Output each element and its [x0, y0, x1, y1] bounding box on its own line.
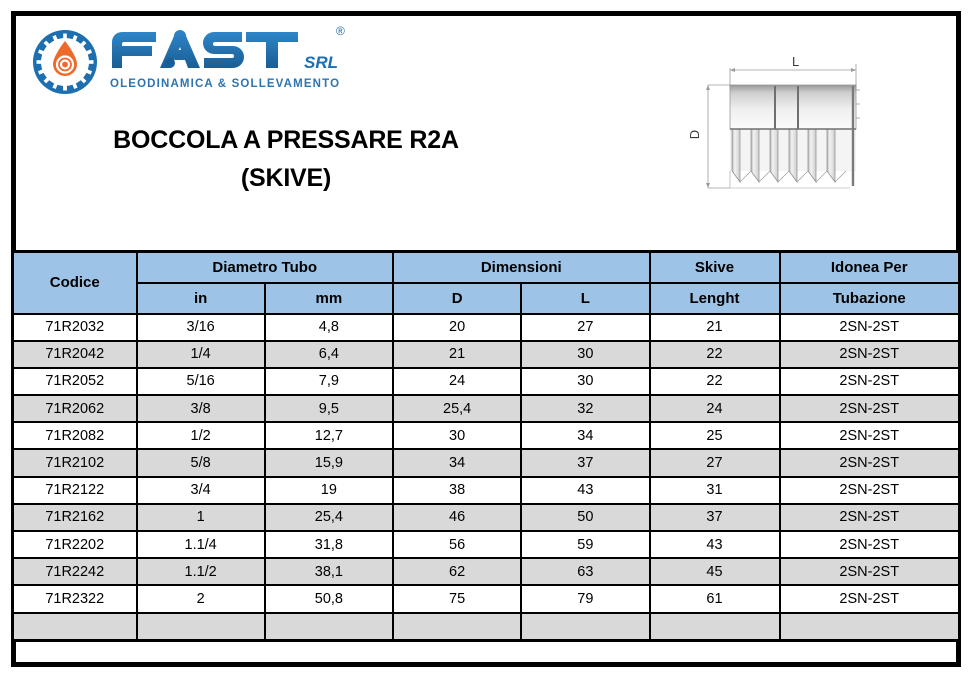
table-row: 71R20623/89,525,432242SN-2ST	[13, 395, 960, 422]
cell-skive	[650, 613, 780, 641]
cell-tubazione: 2SN-2ST	[780, 477, 960, 504]
title-line-2: (SKIVE)	[16, 159, 556, 197]
cell-tubazione: 2SN-2ST	[780, 531, 960, 558]
logo-srl-text: SRL	[304, 53, 338, 73]
page-title: BOCCOLA A PRESSARE R2A (SKIVE)	[16, 121, 556, 197]
cell-mm: 12,7	[265, 422, 393, 449]
cell-mm: 19	[265, 477, 393, 504]
logo-wordmark: SRL ® OLEODINAMICA & SOLLEVAMENTO	[108, 26, 372, 104]
cell-in: 1/4	[137, 341, 265, 368]
cell-in: 1/2	[137, 422, 265, 449]
table-header: Codice Diametro Tubo Dimensioni Skive Id…	[13, 252, 960, 314]
cell-in: 5/8	[137, 449, 265, 476]
cell-skive: 45	[650, 558, 780, 585]
dimension-label-diameter: D	[687, 130, 702, 139]
table-row: 71R2322250,87579612SN-2ST	[13, 585, 960, 612]
header-sub-d: D	[393, 283, 521, 314]
cell-codice: 71R2052	[13, 368, 137, 395]
table-row: 71R22421.1/238,16263452SN-2ST	[13, 558, 960, 585]
cell-in: 3/4	[137, 477, 265, 504]
header-codice: Codice	[13, 252, 137, 314]
table-row: 71R21223/4193843312SN-2ST	[13, 477, 960, 504]
cell-d: 62	[393, 558, 521, 585]
specification-table-wrapper: Codice Diametro Tubo Dimensioni Skive Id…	[11, 250, 961, 642]
cell-skive: 24	[650, 395, 780, 422]
table-row-blank	[13, 613, 960, 641]
cell-mm: 7,9	[265, 368, 393, 395]
cell-codice: 71R2202	[13, 531, 137, 558]
cell-codice: 71R2322	[13, 585, 137, 612]
table-row: 71R21025/815,93437272SN-2ST	[13, 449, 960, 476]
header-skive: Skive	[650, 252, 780, 283]
cell-tubazione: 2SN-2ST	[780, 341, 960, 368]
cell-mm: 38,1	[265, 558, 393, 585]
cell-codice: 71R2082	[13, 422, 137, 449]
logo-tagline: OLEODINAMICA & SOLLEVAMENTO	[110, 78, 340, 90]
cell-d	[393, 613, 521, 641]
dimension-label-length: L	[792, 54, 799, 69]
cell-l: 32	[521, 395, 649, 422]
cell-d: 30	[393, 422, 521, 449]
cell-l: 37	[521, 449, 649, 476]
cell-d: 46	[393, 504, 521, 531]
table-header-row-1: Codice Diametro Tubo Dimensioni Skive Id…	[13, 252, 960, 283]
cell-mm: 31,8	[265, 531, 393, 558]
table-row: 71R2162125,44650372SN-2ST	[13, 504, 960, 531]
cell-l: 59	[521, 531, 649, 558]
cell-tubazione	[780, 613, 960, 641]
cell-mm: 50,8	[265, 585, 393, 612]
datasheet-page: SRL ® OLEODINAMICA & SOLLEVAMENTO BOCCOL…	[0, 0, 972, 678]
cell-d: 24	[393, 368, 521, 395]
cell-d: 56	[393, 531, 521, 558]
header-dimensioni: Dimensioni	[393, 252, 650, 283]
company-logo: SRL ® OLEODINAMICA & SOLLEVAMENTO	[32, 26, 372, 106]
cell-codice: 71R2032	[13, 314, 137, 341]
cell-in: 2	[137, 585, 265, 612]
cell-d: 34	[393, 449, 521, 476]
cell-codice: 71R2042	[13, 341, 137, 368]
cell-l: 34	[521, 422, 649, 449]
cell-in: 1.1/2	[137, 558, 265, 585]
cell-l: 27	[521, 314, 649, 341]
cell-l: 50	[521, 504, 649, 531]
cell-tubazione: 2SN-2ST	[780, 504, 960, 531]
cell-d: 25,4	[393, 395, 521, 422]
cell-in: 3/8	[137, 395, 265, 422]
cell-tubazione: 2SN-2ST	[780, 314, 960, 341]
table-row: 71R20421/46,42130222SN-2ST	[13, 341, 960, 368]
cell-l: 30	[521, 368, 649, 395]
cell-d: 75	[393, 585, 521, 612]
cell-skive: 37	[650, 504, 780, 531]
table-row: 71R20323/164,82027212SN-2ST	[13, 314, 960, 341]
cell-in: 3/16	[137, 314, 265, 341]
header-sub-in: in	[137, 283, 265, 314]
cell-mm: 9,5	[265, 395, 393, 422]
cell-codice: 71R2102	[13, 449, 137, 476]
cell-l	[521, 613, 649, 641]
cell-tubazione: 2SN-2ST	[780, 395, 960, 422]
header-idonea-per: Idonea Per	[780, 252, 960, 283]
cell-codice: 71R2062	[13, 395, 137, 422]
specification-table: Codice Diametro Tubo Dimensioni Skive Id…	[11, 250, 961, 642]
cell-mm	[265, 613, 393, 641]
cell-codice: 71R2162	[13, 504, 137, 531]
cell-mm: 6,4	[265, 341, 393, 368]
header-sub-tubazione: Tubazione	[780, 283, 960, 314]
table-row: 71R20821/212,73034252SN-2ST	[13, 422, 960, 449]
cell-mm: 15,9	[265, 449, 393, 476]
header-sub-l: L	[521, 283, 649, 314]
cell-tubazione: 2SN-2ST	[780, 585, 960, 612]
cell-tubazione: 2SN-2ST	[780, 558, 960, 585]
cell-tubazione: 2SN-2ST	[780, 449, 960, 476]
table-body: 71R20323/164,82027212SN-2ST71R20421/46,4…	[13, 314, 960, 641]
gear-oil-drop-icon	[32, 29, 98, 95]
header-diametro-tubo: Diametro Tubo	[137, 252, 394, 283]
cell-skive: 25	[650, 422, 780, 449]
table-header-row-2: in mm D L Lenght Tubazione	[13, 283, 960, 314]
cell-l: 79	[521, 585, 649, 612]
cell-tubazione: 2SN-2ST	[780, 368, 960, 395]
title-line-1: BOCCOLA A PRESSARE R2A	[16, 121, 556, 159]
cell-in	[137, 613, 265, 641]
cell-skive: 43	[650, 531, 780, 558]
registered-trademark-icon: ®	[336, 24, 345, 38]
cell-l: 63	[521, 558, 649, 585]
cell-in: 1	[137, 504, 265, 531]
cell-codice: 71R2242	[13, 558, 137, 585]
cell-skive: 27	[650, 449, 780, 476]
table-row: 71R22021.1/431,85659432SN-2ST	[13, 531, 960, 558]
cell-skive: 61	[650, 585, 780, 612]
cell-d: 38	[393, 477, 521, 504]
cell-l: 30	[521, 341, 649, 368]
cell-codice	[13, 613, 137, 641]
cell-mm: 4,8	[265, 314, 393, 341]
cell-tubazione: 2SN-2ST	[780, 422, 960, 449]
cell-skive: 31	[650, 477, 780, 504]
header-band: SRL ® OLEODINAMICA & SOLLEVAMENTO BOCCOL…	[16, 16, 956, 250]
cell-d: 21	[393, 341, 521, 368]
cell-skive: 21	[650, 314, 780, 341]
cell-skive: 22	[650, 368, 780, 395]
cell-in: 5/16	[137, 368, 265, 395]
header-sub-mm: mm	[265, 283, 393, 314]
cell-skive: 22	[650, 341, 780, 368]
cell-l: 43	[521, 477, 649, 504]
cell-mm: 25,4	[265, 504, 393, 531]
cell-codice: 71R2122	[13, 477, 137, 504]
table-row: 71R20525/167,92430222SN-2ST	[13, 368, 960, 395]
cell-in: 1.1/4	[137, 531, 265, 558]
header-sub-lenght: Lenght	[650, 283, 780, 314]
ferrule-technical-drawing: L D	[664, 30, 944, 220]
cell-d: 20	[393, 314, 521, 341]
